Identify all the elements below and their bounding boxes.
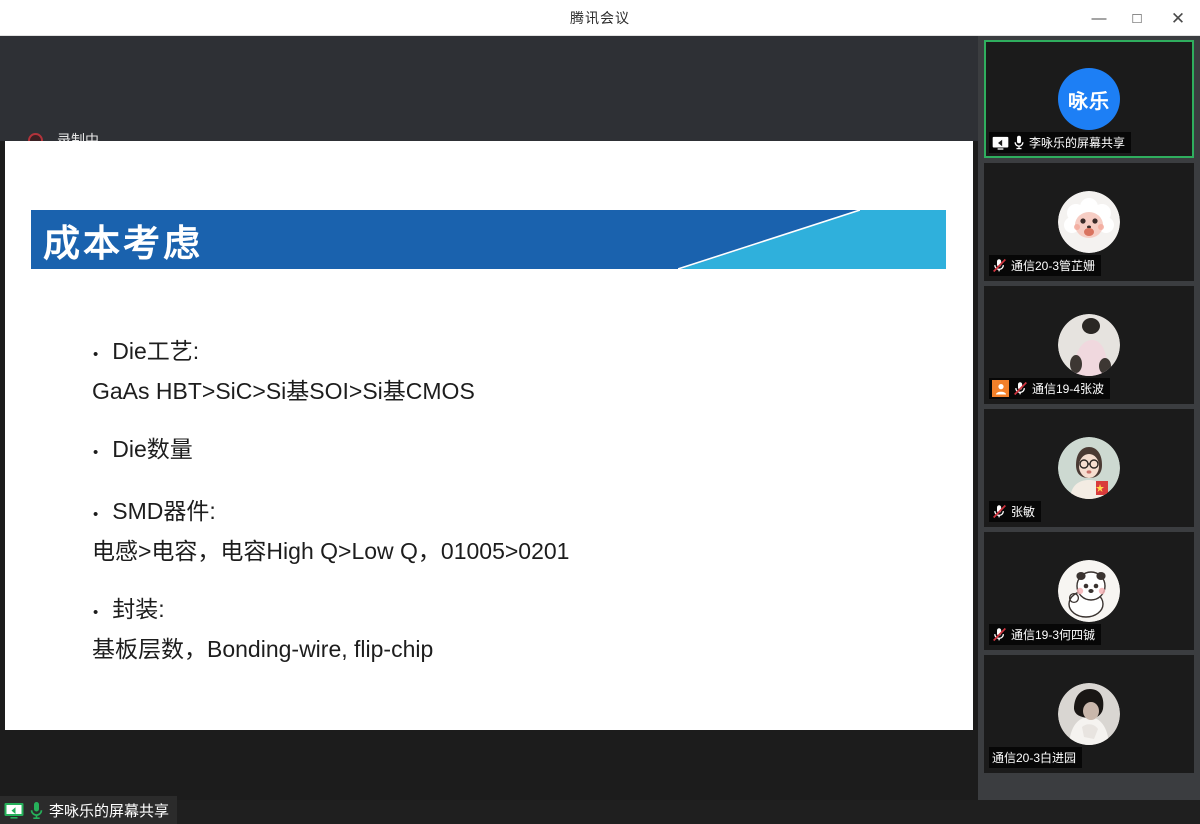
slide-bullet-block: • SMD器件: 电感>电容，电容High Q>Low Q，01005>0201 [93, 494, 893, 568]
participant-nameplate: 张敏 [989, 501, 1041, 522]
avatar-initials: 咏乐 [1068, 85, 1110, 114]
screen-share-status-bar: 李咏乐的屏幕共享 [0, 796, 177, 824]
illustrated-woman-avatar-icon [1058, 437, 1120, 499]
slide-body: • Die工艺: GaAs HBT>SiC>Si基SOI>Si基CMOS • D… [93, 334, 893, 690]
minimize-button[interactable]: — [1080, 0, 1118, 36]
participant-tile[interactable]: 张敏 [984, 409, 1194, 527]
bullet-icon: • [93, 498, 98, 532]
sheep-avatar-icon [1058, 191, 1120, 253]
microphone-muted-icon [992, 258, 1007, 273]
avatar [1058, 314, 1120, 376]
maximize-button[interactable]: □ [1118, 0, 1156, 36]
avatar [1058, 437, 1120, 499]
bullet-subtext: GaAs HBT>SiC>Si基SOI>Si基CMOS [92, 374, 893, 408]
slide-title-banner: 成本考虑 [31, 210, 946, 269]
avatar [1058, 683, 1120, 745]
banner-divider-line [678, 210, 946, 269]
bullet-subtext: 电感>电容，电容High Q>Low Q，01005>0201 [92, 534, 893, 568]
close-button[interactable]: ✕ [1156, 0, 1200, 36]
app-title: 腾讯会议 [570, 8, 630, 28]
participant-nameplate: 通信19-4张波 [989, 378, 1110, 399]
participant-name: 通信20-3白进园 [992, 749, 1076, 766]
participant-rail[interactable]: 咏乐 李咏乐的屏幕共享 [978, 36, 1200, 800]
photo-avatar-icon [1058, 314, 1120, 376]
slide-title: 成本考虑 [43, 213, 203, 267]
screen-share-owner-label: 李咏乐的屏幕共享 [49, 800, 169, 821]
microphone-muted-icon [1013, 381, 1028, 396]
photo-avatar-icon [1058, 683, 1120, 745]
participant-name: 张敏 [1011, 503, 1035, 520]
bullet-icon: • [93, 338, 98, 372]
microphone-icon [29, 801, 44, 820]
presentation-slide: 成本考虑 • Die工艺: GaAs HBT>SiC>Si基SOI>Si基CMO… [5, 141, 973, 730]
window-controls: — □ ✕ [1080, 0, 1200, 36]
participant-nameplate: 李咏乐的屏幕共享 [989, 132, 1131, 153]
screen-share-icon [992, 136, 1009, 150]
participant-name: 通信19-3何四铖 [1011, 626, 1095, 643]
participant-nameplate: 通信19-3何四铖 [989, 624, 1101, 645]
bullet-heading: 封装: [112, 592, 164, 626]
participant-tile[interactable]: 通信19-3何四铖 [984, 532, 1194, 650]
slide-bullet-block: • Die工艺: GaAs HBT>SiC>Si基SOI>Si基CMOS [93, 334, 893, 408]
microphone-muted-icon [992, 627, 1007, 642]
bullet-heading: Die数量 [112, 432, 193, 466]
stage-top-strip [0, 36, 978, 141]
bullet-heading: SMD器件: [112, 494, 216, 528]
shared-screen-stage: 录制中 成本考虑 • Die工艺: GaAs HBT>SiC>Si基SOI>Si… [0, 36, 978, 800]
slide-bullet-block: • Die数量 [93, 432, 893, 470]
host-badge [992, 380, 1009, 397]
bullet-subtext: 基板层数，Bonding-wire, flip-chip [92, 632, 893, 666]
panda-avatar-icon [1058, 560, 1120, 622]
participant-tile[interactable]: 通信20-3管芷姗 [984, 163, 1194, 281]
participant-tile[interactable]: 咏乐 李咏乐的屏幕共享 [984, 40, 1194, 158]
window-title-bar: 腾讯会议 — □ ✕ [0, 0, 1200, 36]
avatar [1058, 560, 1120, 622]
participant-tile[interactable]: 通信20-3白进园 [984, 655, 1194, 773]
bullet-icon: • [93, 436, 98, 470]
microphone-icon [1013, 135, 1025, 150]
screen-share-icon [4, 802, 24, 819]
bullet-heading: Die工艺: [112, 334, 199, 368]
bullet-icon: • [93, 596, 98, 630]
slide-bullet-block: • 封装: 基板层数，Bonding-wire, flip-chip [93, 592, 893, 666]
participant-name: 通信19-4张波 [1032, 380, 1104, 397]
avatar [1058, 191, 1120, 253]
participant-name: 通信20-3管芷姗 [1011, 257, 1095, 274]
participant-tile[interactable]: 通信19-4张波 [984, 286, 1194, 404]
microphone-muted-icon [992, 504, 1007, 519]
participant-nameplate: 通信20-3管芷姗 [989, 255, 1101, 276]
participant-name: 李咏乐的屏幕共享 [1029, 134, 1125, 151]
person-icon [995, 383, 1007, 395]
avatar: 咏乐 [1058, 68, 1120, 130]
participant-nameplate: 通信20-3白进园 [989, 747, 1082, 768]
